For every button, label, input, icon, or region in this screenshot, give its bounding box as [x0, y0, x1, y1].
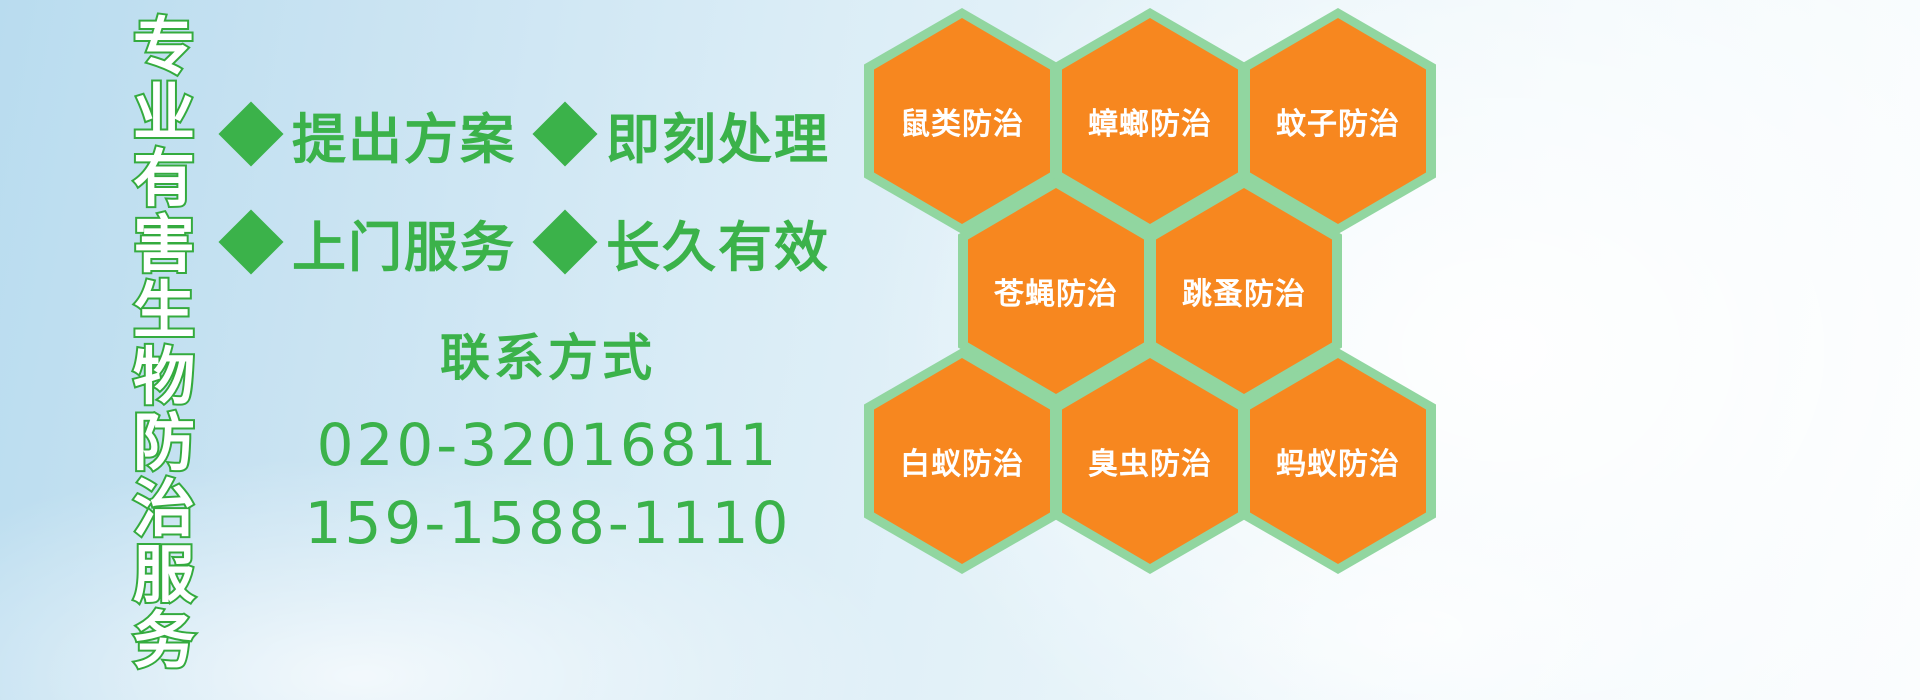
feature-item-onsite-service: 上门服务	[228, 203, 516, 282]
vertical-headline-char: 有	[133, 146, 195, 212]
vertical-headline-char: 害	[133, 212, 195, 278]
vertical-headline-char: 防	[133, 410, 195, 476]
contact-block: 联系方式 020-32016811 159-1588-1110	[228, 318, 868, 562]
hex-inner: 苍蝇防治	[968, 188, 1144, 394]
vertical-headline-char: 专	[133, 14, 195, 80]
hex-inner: 鼠类防治	[874, 18, 1050, 224]
feature-list: 提出方案 即刻处理 上门服务 长久有效	[228, 80, 868, 296]
feature-label: 即刻处理	[606, 95, 830, 174]
service-label: 鼠类防治	[900, 99, 1024, 143]
service-label: 白蚁防治	[900, 439, 1024, 483]
service-label: 蟑螂防治	[1088, 99, 1212, 143]
hex-inner: 臭虫防治	[1062, 358, 1238, 564]
phone-landline[interactable]: 020-32016811	[228, 406, 868, 484]
feature-item-immediate-handling: 即刻处理	[542, 95, 830, 174]
feature-item-propose-plan: 提出方案	[228, 95, 516, 174]
hex-inner: 白蚁防治	[874, 358, 1050, 564]
feature-label: 长久有效	[606, 203, 830, 282]
hex-inner: 跳蚤防治	[1156, 188, 1332, 394]
vertical-headline-char: 务	[133, 608, 195, 674]
service-label: 臭虫防治	[1088, 439, 1212, 483]
service-label: 蚂蚁防治	[1276, 439, 1400, 483]
feature-row: 提出方案 即刻处理	[228, 80, 868, 188]
vertical-headline-char: 物	[133, 344, 195, 410]
feature-label: 提出方案	[292, 95, 516, 174]
service-label: 苍蝇防治	[994, 269, 1118, 313]
diamond-bullet-icon	[218, 101, 283, 166]
feature-label: 上门服务	[292, 203, 516, 282]
vertical-headline-char: 治	[133, 476, 195, 542]
vertical-headline-char: 业	[133, 80, 195, 146]
phone-mobile[interactable]: 159-1588-1110	[228, 484, 868, 562]
diamond-bullet-icon	[218, 209, 283, 274]
service-label: 跳蚤防治	[1182, 269, 1306, 313]
pest-control-banner: 专 业 有 害 生 物 防 治 服 务 提出方案 即刻处理 上门服务	[0, 0, 1920, 700]
feature-row: 上门服务 长久有效	[228, 188, 868, 296]
vertical-headline-char: 生	[133, 278, 195, 344]
hex-inner: 蟑螂防治	[1062, 18, 1238, 224]
contact-heading: 联系方式	[228, 318, 868, 390]
diamond-bullet-icon	[532, 209, 597, 274]
service-honeycomb: 鼠类防治 蟑螂防治 蚊子防治 苍蝇防治 跳蚤防治 白蚁防治	[860, 0, 1480, 700]
feature-item-long-lasting: 长久有效	[542, 203, 830, 282]
vertical-headline-char: 服	[133, 542, 195, 608]
hex-inner: 蚂蚁防治	[1250, 358, 1426, 564]
service-label: 蚊子防治	[1276, 99, 1400, 143]
vertical-headline: 专 业 有 害 生 物 防 治 服 务	[104, 14, 224, 686]
diamond-bullet-icon	[532, 101, 597, 166]
hex-inner: 蚊子防治	[1250, 18, 1426, 224]
